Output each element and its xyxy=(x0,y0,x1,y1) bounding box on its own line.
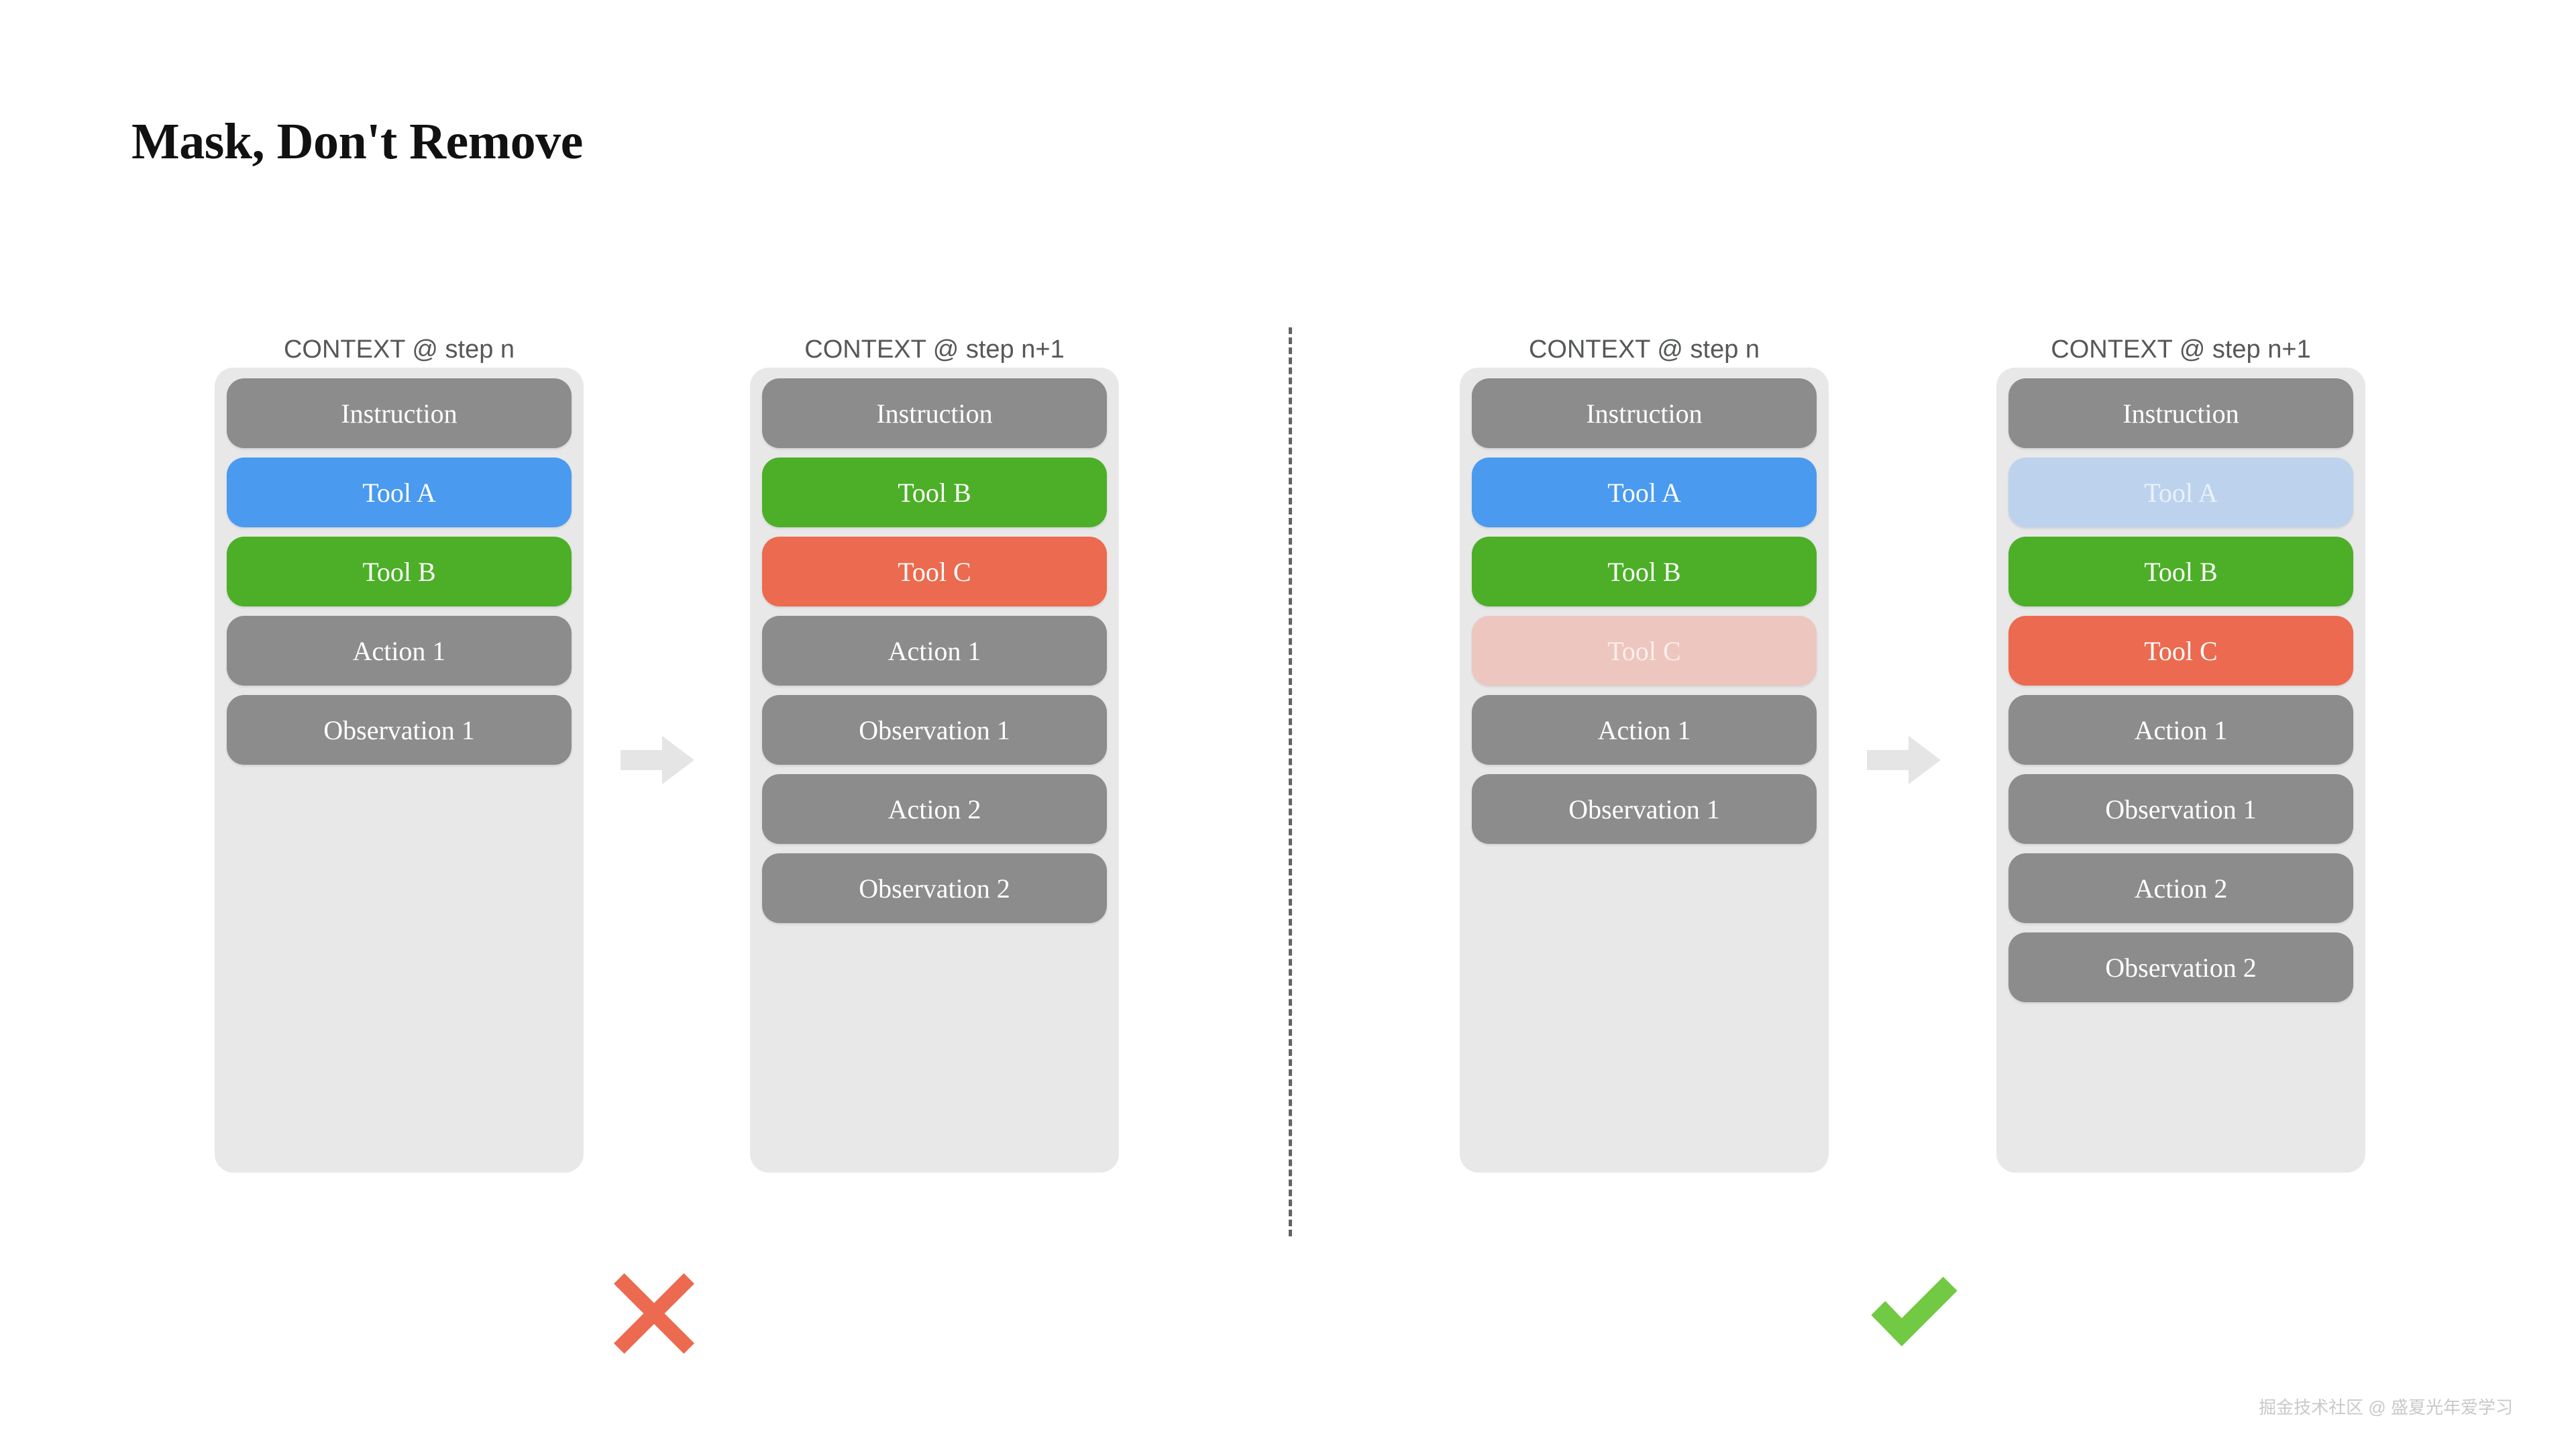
context-block: Action 1 xyxy=(1472,695,1817,765)
context-block: Tool B xyxy=(1472,537,1817,606)
watermark: 掘金技术社区 @ 盛夏光年爱学习 xyxy=(2259,1394,2513,1419)
mask-vs-remove-diagram: CONTEXT @ step n InstructionTool ATool B… xyxy=(0,0,2576,1449)
context-panel: InstructionTool BTool CAction 1Observati… xyxy=(750,368,1119,1173)
cross-icon xyxy=(614,1273,694,1354)
context-block: Action 2 xyxy=(2008,853,2353,923)
context-block: Tool A xyxy=(227,458,572,527)
column-header: CONTEXT @ step n+1 xyxy=(750,335,1119,364)
column-header: CONTEXT @ step n+1 xyxy=(1996,335,2365,364)
context-block: Instruction xyxy=(1472,378,1817,448)
context-block: Action 2 xyxy=(762,774,1107,844)
transition-arrow-icon xyxy=(1867,735,1941,786)
context-block: Tool A xyxy=(1472,458,1817,527)
context-block: Instruction xyxy=(2008,378,2353,448)
context-block: Instruction xyxy=(227,378,572,448)
context-block: Observation 2 xyxy=(762,853,1107,923)
transition-arrow-icon xyxy=(621,735,694,786)
context-block: Action 1 xyxy=(227,616,572,686)
context-block: Tool C xyxy=(1472,616,1817,686)
context-block: Tool B xyxy=(762,458,1107,527)
check-icon xyxy=(1865,1273,1959,1354)
context-block: Observation 1 xyxy=(227,695,572,765)
context-block: Tool C xyxy=(762,537,1107,606)
column-header: CONTEXT @ step n xyxy=(215,335,584,364)
context-block: Observation 2 xyxy=(2008,932,2353,1002)
column-header: CONTEXT @ step n xyxy=(1460,335,1829,364)
context-block: Tool C xyxy=(2008,616,2353,686)
context-block: Observation 1 xyxy=(762,695,1107,765)
context-panel: InstructionTool ATool BTool CAction 1Obs… xyxy=(1460,368,1829,1173)
context-block: Tool B xyxy=(227,537,572,606)
context-block: Observation 1 xyxy=(1472,774,1817,844)
context-block: Tool B xyxy=(2008,537,2353,606)
context-block: Observation 1 xyxy=(2008,774,2353,844)
vertical-divider xyxy=(1289,327,1292,1236)
context-block: Action 1 xyxy=(762,616,1107,686)
context-panel: InstructionTool ATool BAction 1Observati… xyxy=(215,368,584,1173)
context-block: Instruction xyxy=(762,378,1107,448)
context-block: Action 1 xyxy=(2008,695,2353,765)
context-panel: InstructionTool ATool BTool CAction 1Obs… xyxy=(1996,368,2365,1173)
context-block: Tool A xyxy=(2008,458,2353,527)
